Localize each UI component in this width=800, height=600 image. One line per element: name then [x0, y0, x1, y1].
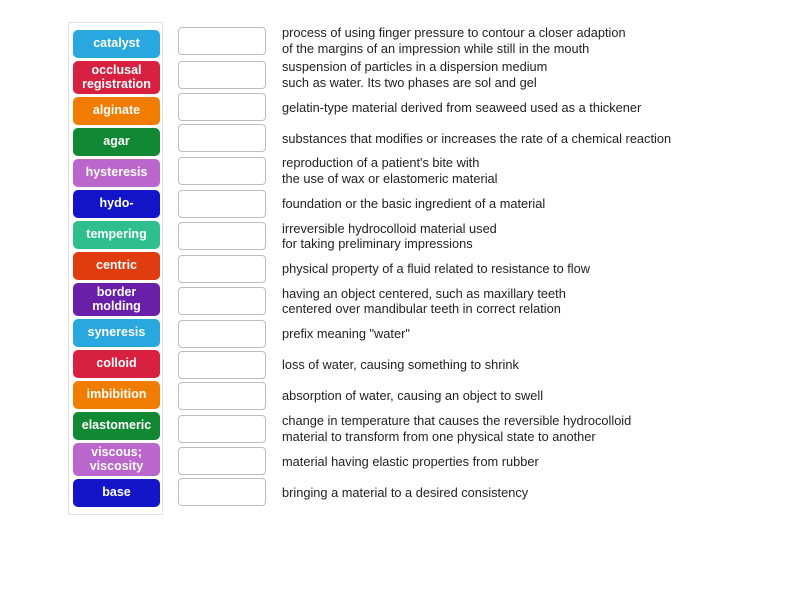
- definition-row: physical property of a fluid related to …: [178, 255, 778, 283]
- term-tile[interactable]: occlusal registration: [73, 61, 160, 94]
- answer-drop-box[interactable]: [178, 222, 266, 250]
- term-tile[interactable]: agar: [73, 128, 160, 156]
- definition-text: absorption of water, causing an object t…: [282, 388, 543, 404]
- answer-drop-box[interactable]: [178, 157, 266, 185]
- answer-drop-box[interactable]: [178, 287, 266, 315]
- match-up-activity: catalystocclusal registrationalginateaga…: [0, 0, 800, 600]
- definition-row: material having elastic properties from …: [178, 447, 778, 475]
- term-tile[interactable]: hydo-: [73, 190, 160, 218]
- answer-drop-box[interactable]: [178, 447, 266, 475]
- definition-row: process of using finger pressure to cont…: [178, 25, 778, 56]
- definition-text: bringing a material to a desired consist…: [282, 485, 528, 501]
- definition-row: foundation or the basic ingredient of a …: [178, 190, 778, 218]
- term-tile[interactable]: border molding: [73, 283, 160, 316]
- definition-text: process of using finger pressure to cont…: [282, 25, 626, 56]
- definition-text: suspension of particles in a dispersion …: [282, 59, 547, 90]
- term-tile[interactable]: viscous; viscosity: [73, 443, 160, 476]
- definition-row: suspension of particles in a dispersion …: [178, 59, 778, 90]
- term-tile[interactable]: hysteresis: [73, 159, 160, 187]
- definition-row: bringing a material to a desired consist…: [178, 478, 778, 506]
- answer-drop-box[interactable]: [178, 415, 266, 443]
- definition-row: loss of water, causing something to shri…: [178, 351, 778, 379]
- answer-drop-box[interactable]: [178, 255, 266, 283]
- definition-row: change in temperature that causes the re…: [178, 413, 778, 444]
- answer-drop-box[interactable]: [178, 190, 266, 218]
- answer-drop-box[interactable]: [178, 124, 266, 152]
- term-tile[interactable]: centric: [73, 252, 160, 280]
- definition-text: material having elastic properties from …: [282, 454, 539, 470]
- answer-drop-box[interactable]: [178, 351, 266, 379]
- definition-row: substances that modifies or increases th…: [178, 124, 778, 152]
- term-tile[interactable]: alginate: [73, 97, 160, 125]
- answer-drop-box[interactable]: [178, 320, 266, 348]
- definition-text: substances that modifies or increases th…: [282, 131, 671, 147]
- answer-drop-box[interactable]: [178, 61, 266, 89]
- definition-text: loss of water, causing something to shri…: [282, 357, 519, 373]
- answer-drop-box[interactable]: [178, 93, 266, 121]
- definition-row: having an object centered, such as maxil…: [178, 286, 778, 317]
- draggable-terms-panel: catalystocclusal registrationalginateaga…: [68, 22, 163, 515]
- term-tile[interactable]: catalyst: [73, 30, 160, 58]
- definition-text: physical property of a fluid related to …: [282, 261, 590, 277]
- term-tile[interactable]: imbibition: [73, 381, 160, 409]
- definition-row: irreversible hydrocolloid material used …: [178, 221, 778, 252]
- definition-text: gelatin-type material derived from seawe…: [282, 100, 641, 116]
- definition-row: prefix meaning "water": [178, 320, 778, 348]
- definition-rows-list: process of using finger pressure to cont…: [178, 22, 778, 509]
- definition-text: change in temperature that causes the re…: [282, 413, 631, 444]
- term-tile[interactable]: base: [73, 479, 160, 507]
- definition-text: reproduction of a patient's bite with th…: [282, 155, 498, 186]
- definition-text: prefix meaning "water": [282, 326, 410, 342]
- term-tile[interactable]: syneresis: [73, 319, 160, 347]
- definition-row: reproduction of a patient's bite with th…: [178, 155, 778, 186]
- answer-drop-box[interactable]: [178, 478, 266, 506]
- answer-drop-box[interactable]: [178, 27, 266, 55]
- definition-row: absorption of water, causing an object t…: [178, 382, 778, 410]
- definition-text: foundation or the basic ingredient of a …: [282, 196, 545, 212]
- answer-drop-box[interactable]: [178, 382, 266, 410]
- term-tile[interactable]: colloid: [73, 350, 160, 378]
- definition-row: gelatin-type material derived from seawe…: [178, 93, 778, 121]
- definition-text: irreversible hydrocolloid material used …: [282, 221, 497, 252]
- term-tile[interactable]: elastomeric: [73, 412, 160, 440]
- definition-text: having an object centered, such as maxil…: [282, 286, 566, 317]
- term-tile[interactable]: tempering: [73, 221, 160, 249]
